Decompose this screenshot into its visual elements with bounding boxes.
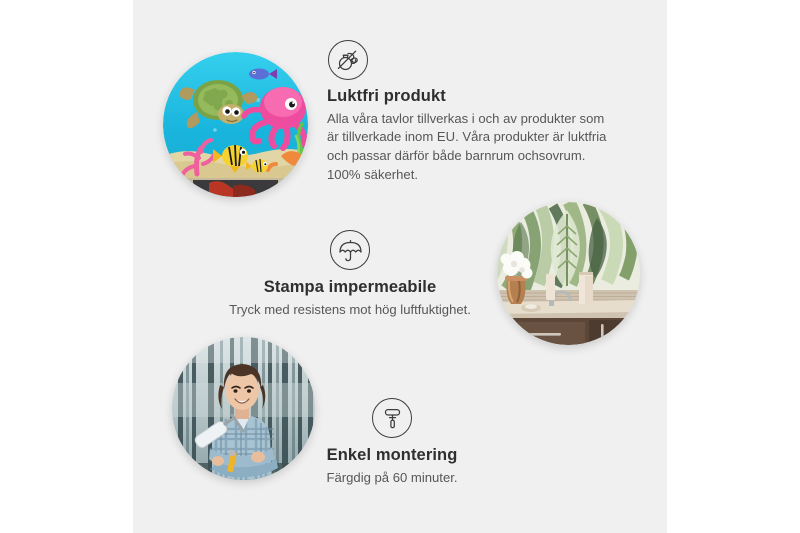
screenshot-stage: Luktfri produkt Alla våra tavlor tillver… bbox=[0, 0, 800, 533]
paint-roller-icon bbox=[372, 398, 412, 438]
feature-easy-install: Enkel montering Färgdig på 60 minuter. bbox=[292, 398, 492, 487]
feature-odourless: Luktfri produkt Alla våra tavlor tillver… bbox=[327, 40, 619, 184]
tropical-leaf-bathroom-photo bbox=[497, 202, 640, 345]
feature-title: Luktfri produkt bbox=[327, 87, 619, 107]
underwater-cartoon-wall-mural-photo bbox=[163, 52, 308, 197]
feature-body: Alla våra tavlor tillverkas i och av pro… bbox=[327, 110, 619, 184]
feature-body: Färgdig på 60 minuter. bbox=[292, 469, 492, 488]
no-fragrance-icon bbox=[328, 40, 368, 80]
feature-title: Enkel montering bbox=[292, 446, 492, 466]
feature-waterproof: Stampa impermeabile Tryck med resistens … bbox=[205, 230, 495, 319]
umbrella-icon bbox=[330, 230, 370, 270]
feature-title: Stampa impermeabile bbox=[205, 278, 495, 298]
feature-body: Tryck med resistens mot hög luftfuktighe… bbox=[205, 301, 495, 320]
